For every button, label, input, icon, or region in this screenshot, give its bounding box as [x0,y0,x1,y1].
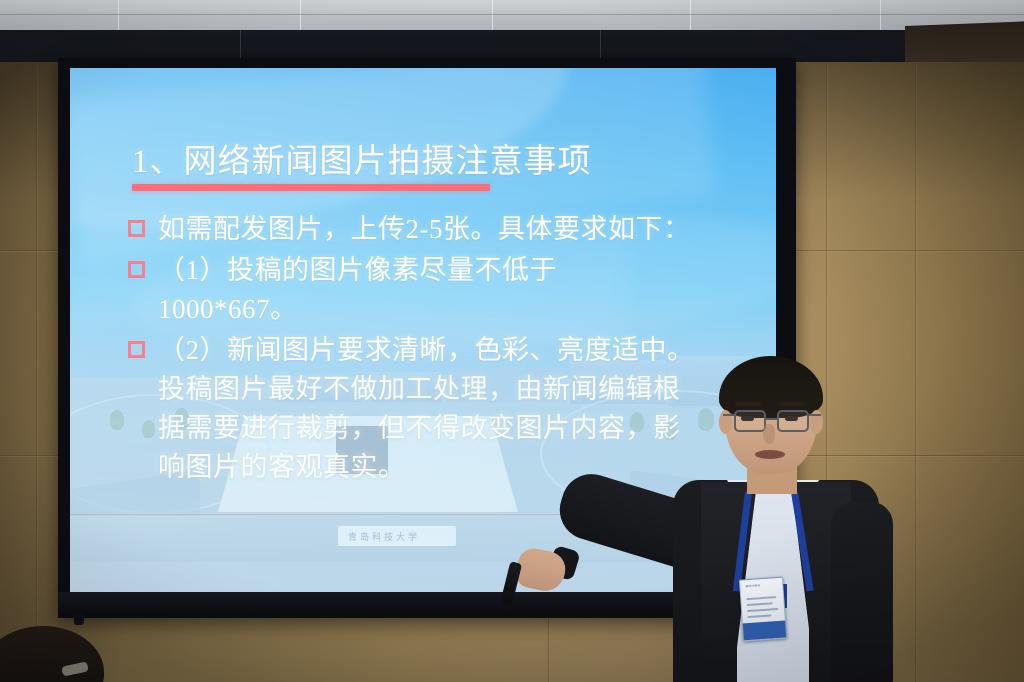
glasses-temple-right [809,414,821,416]
title-underline [132,184,490,191]
presenter-left-arm [831,502,893,682]
eyebrow-left [735,402,761,406]
square-bullet-icon [128,220,145,237]
bullet-line: 1000*667。 [158,290,768,329]
list-item: （1）投稿的图片像素尽量不低于 1000*667。 [128,251,768,329]
glasses-temple-left [723,414,735,416]
bullet-line: （1）投稿的图片像素尽量不低于 [158,251,768,290]
glasses-bridge [766,418,777,420]
glasses-lens-left [734,410,766,432]
conference-badge: 会议代表证 [739,577,787,642]
square-bullet-icon [128,261,145,278]
square-bullet-icon [128,341,145,358]
presenter-hair [719,356,823,418]
bullet-line: 如需配发图片，上传2-5张。具体要求如下： [158,210,768,249]
presenter-nose [763,424,775,444]
campus-gate-sign: 青岛科技大学 [348,530,446,541]
screen-mount-left [74,614,84,625]
badge-title: 会议代表证 [745,583,779,592]
eyebrow-right [779,402,805,406]
list-item: 如需配发图片，上传2-5张。具体要求如下： [128,210,768,249]
glasses-lens-right [777,410,809,432]
slide-title: 1、网络新闻图片拍摄注意事项 [132,144,592,180]
lecture-room-scene: 青岛科技大学 1、网络新闻图片拍摄注意事项 如需配发图片，上传2-5张。具体要求… [0,0,1024,682]
presenter: 会议代表证 [595,352,925,682]
presenter-mouth [755,450,785,459]
